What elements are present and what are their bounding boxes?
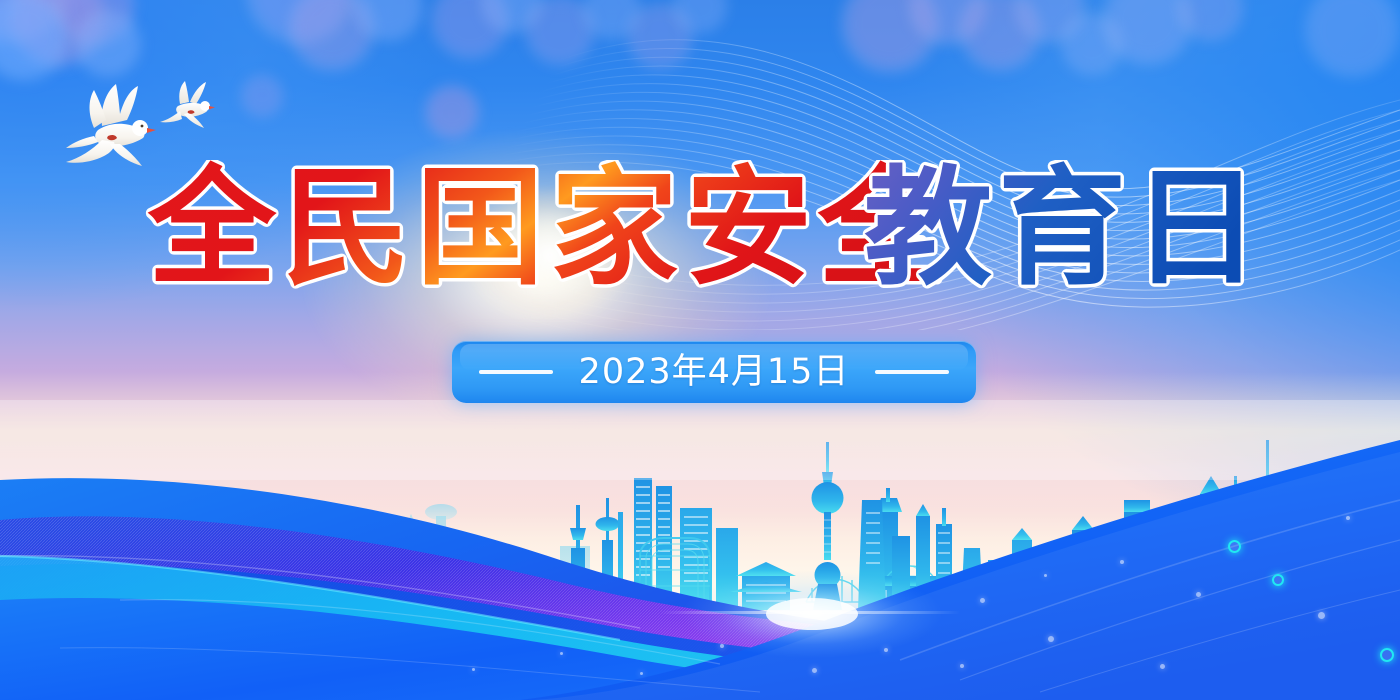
wave-particle [1318, 612, 1325, 619]
wave-particle [1160, 664, 1165, 669]
wave-particle [640, 672, 643, 675]
wave-particle [560, 652, 563, 655]
wave-particle [1048, 636, 1054, 642]
poster-root: 全民国家安全 教育日 2023年4月15日 [0, 0, 1400, 700]
wave-particle [1272, 574, 1284, 586]
wave-particle [1346, 516, 1350, 520]
wave-particle [1228, 540, 1241, 553]
date-badge[interactable]: 2023年4月15日 [452, 341, 976, 403]
wave-particle [1044, 574, 1047, 577]
wave-particle [960, 664, 964, 668]
date-text: 2023年4月15日 [579, 355, 850, 390]
title-red-text: 全民国家安全 [147, 160, 952, 303]
wave-particle [720, 644, 724, 648]
wave-particle [884, 648, 888, 652]
title-blue-text: 教育日 [864, 160, 1266, 303]
wave-particle [1120, 560, 1124, 564]
wave-particle [812, 668, 817, 673]
wave-particle [472, 668, 475, 671]
wave-particle [1196, 592, 1201, 597]
wave-particle [980, 598, 985, 603]
badge-dash-right [875, 370, 949, 374]
badge-dash-left [479, 370, 553, 374]
main-title: 全民国家安全 教育日 [0, 160, 1400, 330]
title-calligraphy: 全民国家安全 教育日 [110, 160, 1290, 335]
wave-particle [1380, 648, 1394, 662]
